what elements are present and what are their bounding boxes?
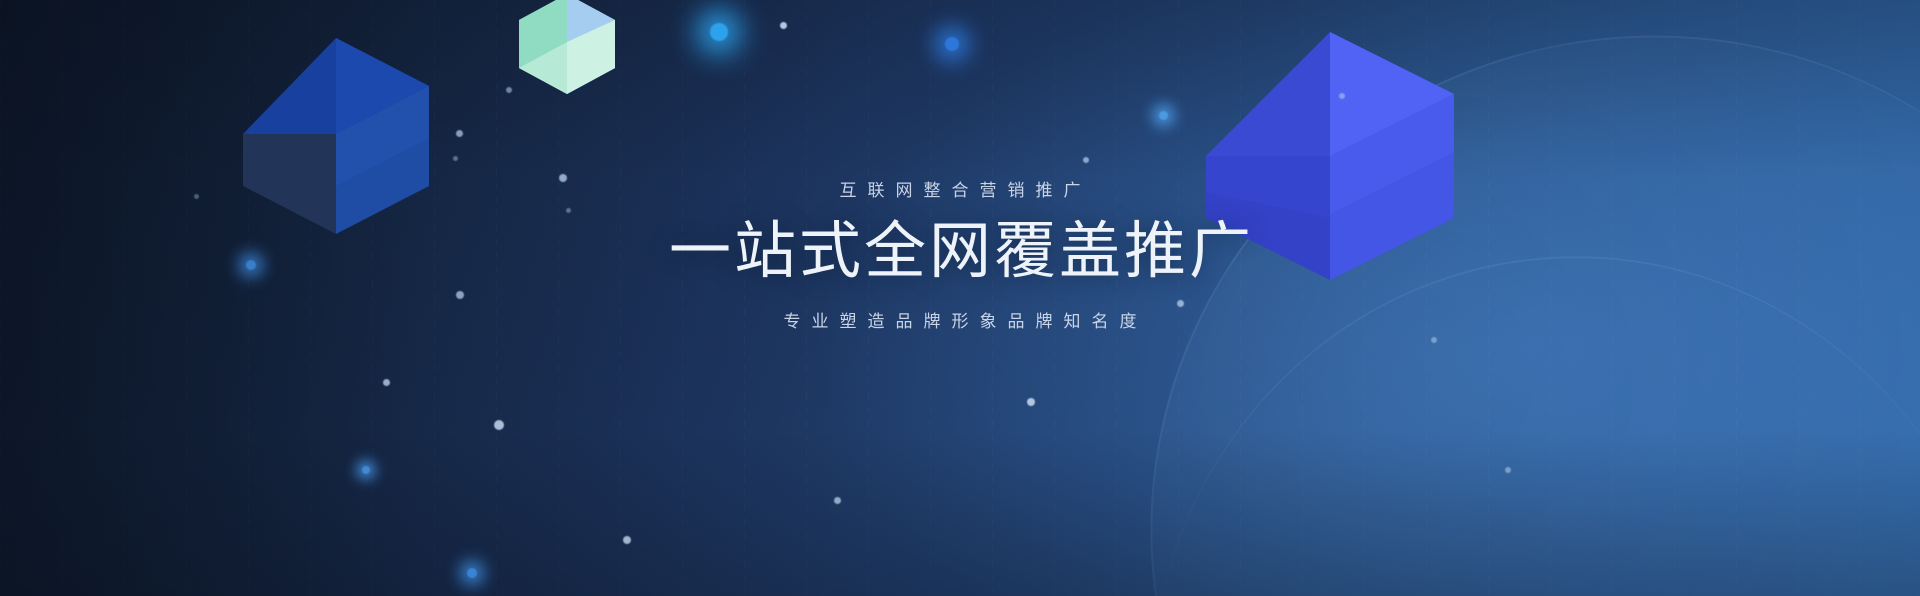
particle-dot [494,420,504,430]
particle-dot [1339,93,1345,99]
particle-dot [1027,398,1035,406]
particle-dot [1159,111,1168,120]
banner-subline: 专业塑造品牌形象品牌知名度 [0,307,1920,332]
particle-dot [453,156,458,161]
particle-dot [1083,157,1089,163]
particle-dot [456,130,463,137]
banner-copy: 互联网整合营销推广 一站式全网覆盖推广 专业塑造品牌形象品牌知名度 [0,176,1920,332]
particle-dot [834,497,841,504]
particle-dot [506,87,512,93]
particle-dot [383,379,390,386]
particle-dot [1431,337,1437,343]
particle-dot [945,37,959,51]
banner-eyebrow: 互联网整合营销推广 [0,176,1920,201]
banner-headline: 一站式全网覆盖推广 [0,217,1920,286]
particle-dot [710,23,728,41]
particle-dot [623,536,631,544]
particle-dot [467,568,477,578]
promo-banner: 互联网整合营销推广 一站式全网覆盖推广 专业塑造品牌形象品牌知名度 [0,0,1920,596]
particle-dot [780,22,787,29]
particle-dot [1505,467,1511,473]
particle-dot [362,466,370,474]
